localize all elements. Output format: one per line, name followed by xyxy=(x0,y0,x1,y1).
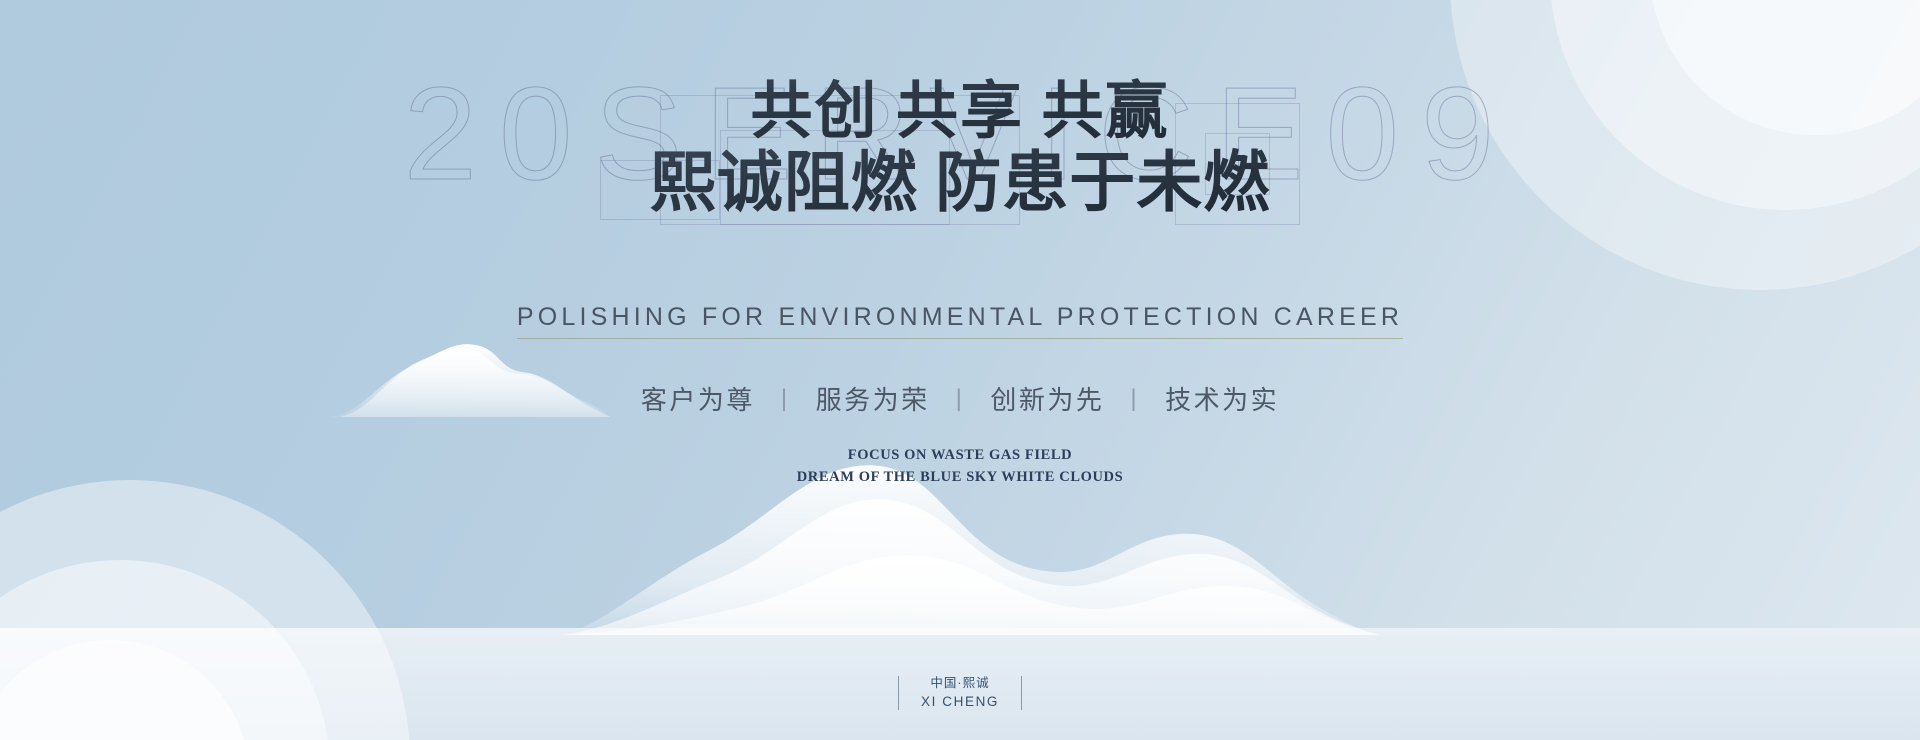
value-item-4: 技术为实 xyxy=(1139,380,1305,417)
sub-slogan-line-2: DREAM OF THE BLUE SKY WHITE CLOUDS xyxy=(0,466,1920,488)
sub-slogan-line-1: FOCUS ON WASTE GAS FIELD xyxy=(0,444,1920,466)
english-tagline-text: POLISHING FOR ENVIRONMENTAL PROTECTION C… xyxy=(517,303,1403,339)
brand-logo: 中国·熙诚 XI CHENG xyxy=(0,674,1920,712)
promo-banner: 20SERVICE09 共创 共享 共赢 熙诚阻燃 防患于未燃 POLISHIN… xyxy=(0,0,1920,740)
headline-block: 共创 共享 共赢 熙诚阻燃 防患于未燃 xyxy=(0,78,1920,221)
value-separator: | xyxy=(781,385,790,413)
logo-english-name: XI CHENG xyxy=(921,692,999,712)
headline-line-2: 熙诚阻燃 防患于未燃 xyxy=(0,147,1920,221)
values-row: 客户为尊 | 服务为荣 | 创新为先 | 技术为实 xyxy=(0,380,1920,417)
logo-chinese-name: 中国·熙诚 xyxy=(921,674,999,693)
logo-divider-right xyxy=(1021,676,1022,710)
english-tagline: POLISHING FOR ENVIRONMENTAL PROTECTION C… xyxy=(0,303,1920,332)
value-separator: | xyxy=(1130,385,1139,413)
value-item-2: 服务为荣 xyxy=(790,380,956,417)
value-separator: | xyxy=(956,385,965,413)
sub-slogan-block: FOCUS ON WASTE GAS FIELD DREAM OF THE BL… xyxy=(0,444,1920,489)
value-item-3: 创新为先 xyxy=(964,380,1130,417)
logo-text-block: 中国·熙诚 XI CHENG xyxy=(921,674,999,712)
value-item-1: 客户为尊 xyxy=(615,380,781,417)
headline-line-1: 共创 共享 共赢 xyxy=(0,78,1920,147)
logo-divider-left xyxy=(898,676,899,710)
